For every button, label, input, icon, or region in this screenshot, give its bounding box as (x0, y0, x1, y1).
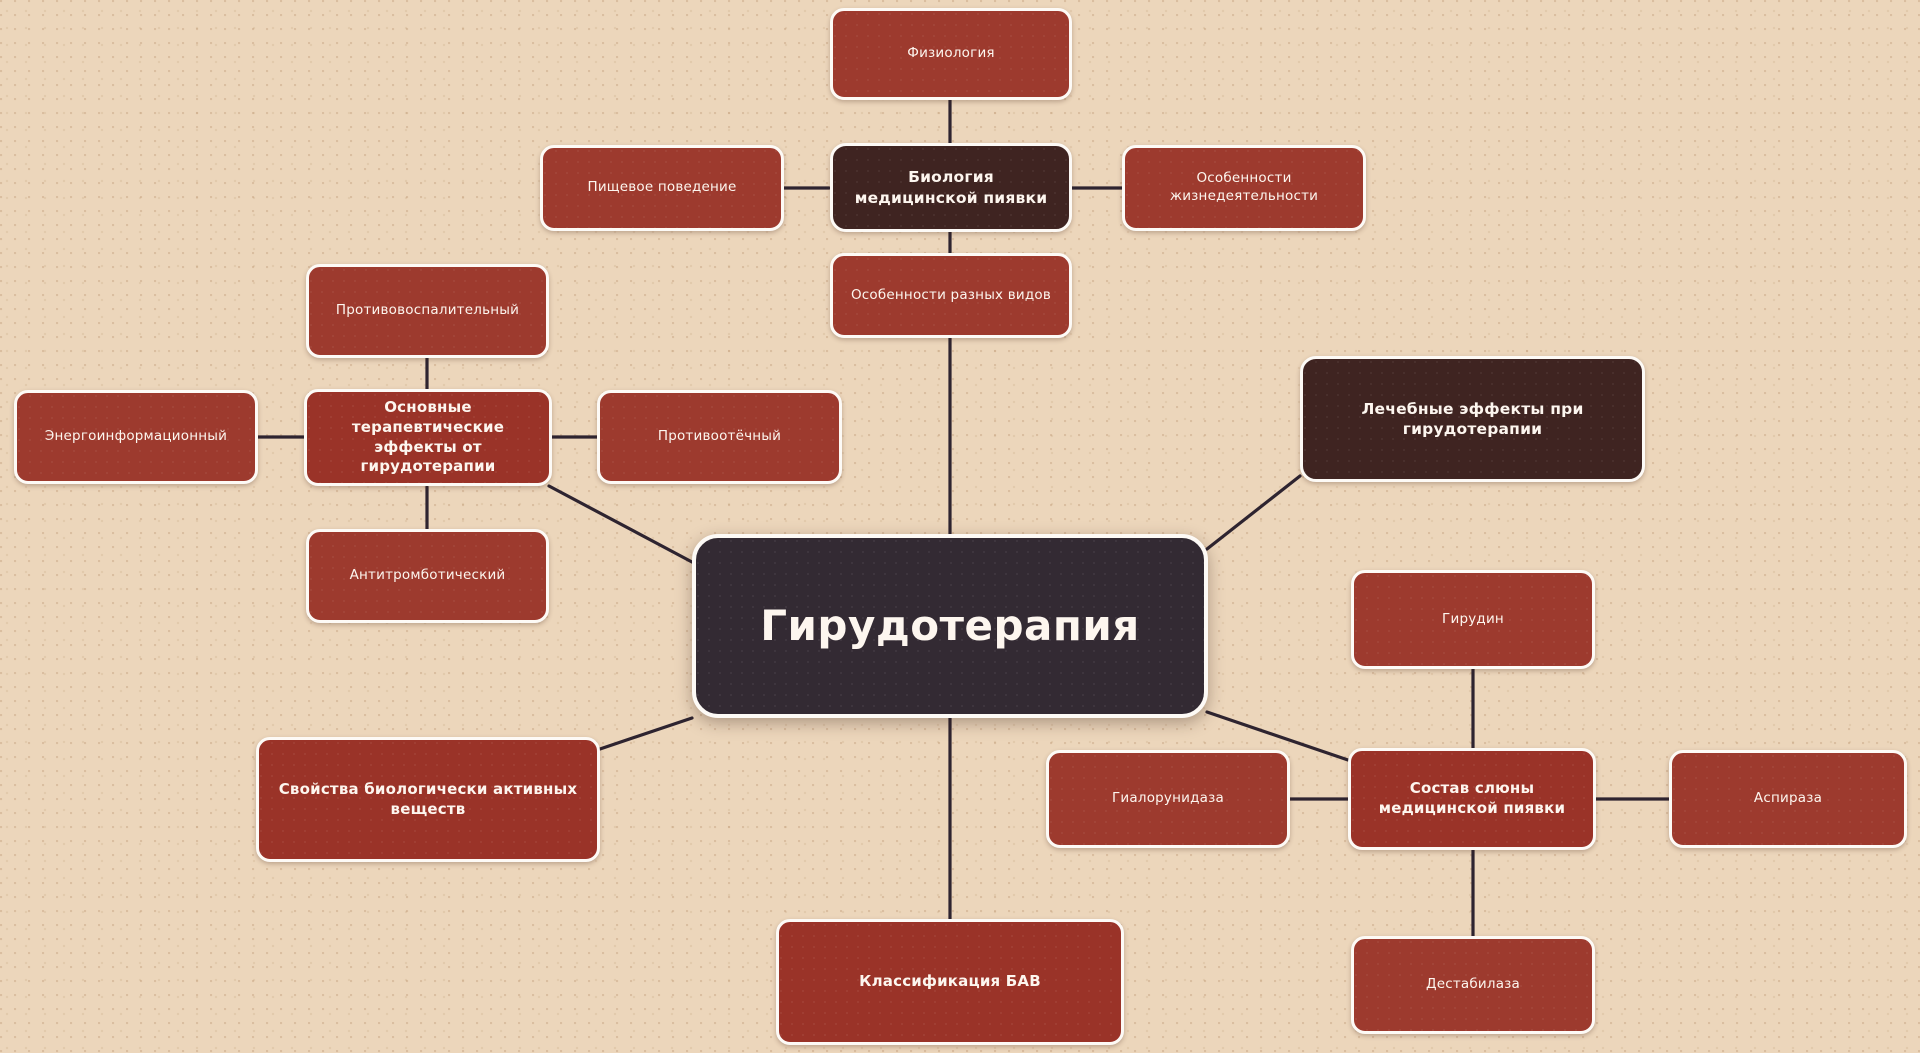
node-hyaluronidase-label: Гиалорунидаза (1112, 790, 1224, 808)
mindmap-canvas: Физиология Биология медицинской пиявки П… (0, 0, 1920, 1053)
node-biology-hub[interactable]: Биология медицинской пиявки (830, 143, 1072, 232)
edge-root-bavproperties (600, 718, 692, 749)
node-antithrombotic-label: Антитромботический (350, 567, 506, 585)
edge-therapeutic-root (549, 486, 692, 562)
node-hirudin-label: Гирудин (1442, 611, 1504, 629)
node-destabilase-label: Дестабилаза (1426, 976, 1520, 994)
node-biology-hub-label: Биология медицинской пиявки (847, 167, 1055, 208)
node-anti-inflammatory[interactable]: Противовоспалительный (306, 264, 549, 358)
node-species-features-label: Особенности разных видов (851, 287, 1051, 305)
node-bav-properties-label: Свойства биологически активных веществ (273, 780, 583, 820)
node-bav-properties[interactable]: Свойства биологически активных веществ (256, 737, 600, 862)
node-anti-edema[interactable]: Противоотёчный (597, 390, 842, 484)
node-feeding-behavior[interactable]: Пищевое поведение (540, 145, 784, 231)
node-healing-effects-label: Лечебные эффекты при гирудотерапии (1317, 399, 1628, 440)
node-hirudin[interactable]: Гирудин (1351, 570, 1595, 669)
node-aspirase[interactable]: Аспираза (1669, 750, 1907, 848)
node-therapeutic-effects-label: Основные терапевтические эффекты от гиру… (321, 398, 535, 477)
node-energy-information[interactable]: Энергоинформационный (14, 390, 258, 484)
node-therapeutic-effects[interactable]: Основные терапевтические эффекты от гиру… (304, 389, 552, 486)
node-life-features-label: Особенности жизнедеятельности (1139, 170, 1349, 206)
node-anti-edema-label: Противоотёчный (658, 428, 781, 446)
node-life-features[interactable]: Особенности жизнедеятельности (1122, 145, 1366, 231)
node-aspirase-label: Аспираза (1754, 790, 1822, 808)
node-physiology-label: Физиология (907, 45, 994, 63)
node-feeding-behavior-label: Пищевое поведение (587, 179, 736, 197)
node-physiology[interactable]: Физиология (830, 8, 1072, 100)
node-antithrombotic[interactable]: Антитромботический (306, 529, 549, 623)
node-saliva-composition-label: Состав слюны медицинской пиявки (1365, 779, 1579, 819)
node-root-gyrudotherapy[interactable]: Гирудотерапия (692, 534, 1208, 718)
node-species-features[interactable]: Особенности разных видов (830, 253, 1072, 338)
node-root-label: Гирудотерапия (760, 598, 1140, 653)
node-anti-inflammatory-label: Противовоспалительный (336, 302, 519, 320)
edge-root-healing (1207, 476, 1300, 549)
node-bav-classification[interactable]: Классификация БАВ (776, 919, 1124, 1045)
node-energy-information-label: Энергоинформационный (45, 428, 227, 446)
node-bav-classification-label: Классификация БАВ (859, 972, 1041, 992)
node-destabilase[interactable]: Дестабилаза (1351, 936, 1595, 1034)
node-hyaluronidase[interactable]: Гиалорунидаза (1046, 750, 1290, 848)
node-healing-effects[interactable]: Лечебные эффекты при гирудотерапии (1300, 356, 1645, 482)
node-saliva-composition[interactable]: Состав слюны медицинской пиявки (1348, 748, 1596, 850)
